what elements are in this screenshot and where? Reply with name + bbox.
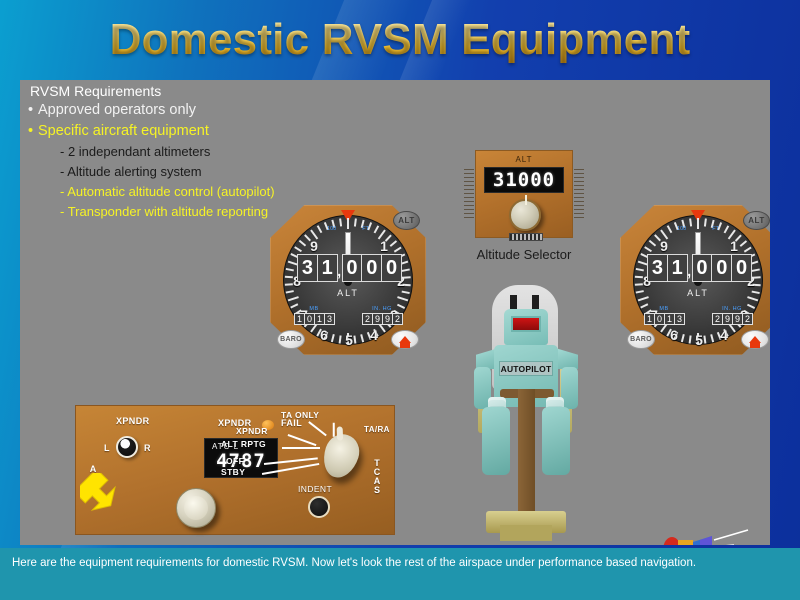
baro-inhg-value: 2992	[362, 313, 402, 325]
readout-digit: 0	[361, 254, 382, 282]
robot-leg-left	[482, 407, 510, 475]
baro-mb-value: 1013	[644, 313, 684, 325]
dial-number: 9	[307, 238, 321, 254]
dial-unit-100: 100	[677, 226, 686, 232]
baro-mb-value: 1013	[294, 313, 334, 325]
autopilot-robot-illustration: AUTOPILOT	[460, 285, 590, 545]
caption-bar: Here are the equipment requirements for …	[0, 548, 800, 600]
panel-texture	[574, 169, 584, 221]
altimeter-warning-button[interactable]	[391, 330, 419, 349]
readout-digit: 0	[731, 254, 752, 282]
tcas-vertical-label: TCAS	[372, 458, 381, 494]
dial-number: 4	[367, 327, 381, 343]
readout-digit: 1	[667, 254, 688, 282]
list-item: - Altitude alerting system	[28, 162, 448, 182]
robot-leg-right	[542, 407, 570, 475]
altimeter-baro-button[interactable]: BARO	[627, 330, 655, 349]
rotary-option-off[interactable]: OFF	[226, 456, 244, 466]
altitude-selector-display: 31000	[484, 167, 564, 193]
altimeter-digital-readout: 3 1 , 0 0 0	[647, 254, 751, 282]
list-item-label: Specific aircraft equipment	[38, 123, 209, 139]
requirements-heading: RVSM Requirements	[28, 82, 448, 100]
altimeter-left[interactable]: 1 2 3 4 5 6 7 8 9 100 FT 3 1 ,	[270, 205, 426, 355]
dial-tick	[299, 240, 306, 246]
dial-number: 5	[342, 332, 356, 348]
altimeter-warning-button[interactable]	[741, 330, 769, 349]
rotary-tick	[282, 447, 320, 449]
readout-digit: 3	[297, 254, 318, 282]
bullet-dot-icon: •	[28, 121, 33, 142]
dial-number: 1	[727, 238, 741, 254]
baro-inhg-group: IN. HG 2992	[712, 306, 752, 325]
dial-number: 1	[377, 238, 391, 254]
altitude-selector-knob[interactable]	[509, 199, 541, 231]
readout-digit: 0	[342, 254, 363, 282]
rotary-option-alt-rptg[interactable]: ALT RPTG	[221, 439, 266, 449]
dial-number: 6	[667, 327, 681, 343]
dial-tick	[649, 240, 656, 246]
switch-position-right-label: R	[144, 443, 151, 453]
baro-mb-label: MB	[294, 306, 334, 312]
altitude-selector-alt-label: ALT	[476, 151, 572, 164]
pilot-seat-legs	[500, 525, 552, 541]
baro-settings-row: MB 1013 IN. HG 2992	[644, 306, 752, 325]
list-item-label: Approved operators only	[38, 102, 196, 118]
readout-digit: 0	[381, 254, 402, 282]
rotary-option-stby[interactable]: STBY	[221, 467, 245, 477]
rotary-option-ta-only[interactable]: TA ONLY	[281, 410, 319, 420]
altimeter-mode-label: ALT	[634, 288, 762, 298]
warning-flag-icon	[749, 336, 761, 343]
indent-label: INDENT	[298, 484, 332, 494]
baro-mb-group: MB 1013	[644, 306, 684, 325]
altimeter-face: 1 2 3 4 5 6 7 8 9 100 FT 3 1 ,	[283, 215, 413, 345]
rotary-tick	[288, 434, 317, 446]
title-bar: Domestic RVSM Equipment	[0, 6, 800, 74]
rotary-tick	[309, 421, 327, 436]
readout-digit: 1	[317, 254, 338, 282]
altitude-selector-panel[interactable]: ALT 31000	[475, 150, 573, 238]
altitude-selector-caption: Altitude Selector	[475, 247, 573, 262]
altimeter-alt-button[interactable]: ALT	[743, 211, 770, 230]
content-panel: RVSM Requirements • Approved operators o…	[20, 80, 770, 545]
list-item: • Approved operators only	[28, 100, 448, 121]
dial-number: 6	[317, 327, 331, 343]
readout-digit: 0	[692, 254, 713, 282]
warning-flag-icon	[399, 336, 411, 343]
dial-tick	[294, 247, 302, 253]
baro-inhg-label: IN. HG	[712, 306, 752, 312]
xpndr-lr-toggle-switch[interactable]	[116, 436, 138, 458]
list-item: - 2 independant altimeters	[28, 142, 448, 162]
altimeter-right[interactable]: 1 2 3 4 5 6 7 8 9 100 FT 3 1 ,	[620, 205, 770, 355]
dial-number: 4	[717, 327, 731, 343]
dial-unit-ft: FT	[712, 226, 719, 232]
dial-tick	[744, 247, 752, 253]
baro-inhg-label: IN. HG	[362, 306, 402, 312]
dial-unit-100: 100	[327, 226, 336, 232]
altitude-selector-value: 31000	[493, 169, 555, 191]
altimeter-alt-button[interactable]: ALT	[393, 211, 420, 230]
altimeter-digital-readout: 3 1 , 0 0 0	[297, 254, 401, 282]
list-item: • Specific aircraft equipment	[28, 121, 448, 142]
dial-tick	[711, 334, 714, 342]
caption-text: Here are the equipment requirements for …	[12, 556, 696, 571]
rotary-option-xpndr[interactable]: XPNDR	[236, 426, 268, 436]
rotary-option-ta-ra[interactable]: TA/RA	[364, 425, 390, 434]
selector-connector	[509, 233, 543, 241]
dial-unit-ft: FT	[362, 226, 369, 232]
yellow-arrow-pointer-icon	[80, 473, 118, 513]
readout-digit: 0	[711, 254, 732, 282]
page-title: Domestic RVSM Equipment	[110, 15, 691, 65]
dial-tick	[644, 247, 652, 253]
switch-position-left-label: L	[104, 443, 110, 453]
altimeter-mode-label: ALT	[284, 288, 412, 298]
baro-inhg-group: IN. HG 2992	[362, 306, 402, 325]
indent-button[interactable]	[308, 496, 330, 518]
altimeter-face: 1 2 3 4 5 6 7 8 9 100 FT 3 1 ,	[633, 215, 763, 345]
dial-tick	[752, 268, 760, 271]
knob-index-mark	[525, 195, 527, 205]
dial-number: 9	[657, 238, 671, 254]
transponder-antenna-icon	[660, 528, 755, 545]
dial-tick	[332, 334, 335, 342]
dial-tick	[402, 268, 410, 271]
baro-mb-group: MB 1013	[294, 306, 334, 325]
dial-tick	[394, 247, 402, 253]
baro-mb-label: MB	[644, 306, 684, 312]
dial-tick	[286, 268, 294, 271]
dial-tick	[361, 334, 364, 342]
transponder-control-panel[interactable]: XPNDR L R ATC XPNDR FAIL ATC L 4787 INDE…	[75, 405, 395, 535]
readout-digit: 3	[647, 254, 668, 282]
altitude-selector-group: ALT 31000 Altitude Selector	[475, 150, 585, 262]
baro-settings-row: MB 1013 IN. HG 2992	[294, 306, 402, 325]
slide-canvas: Domestic RVSM Equipment RVSM Requirement…	[0, 0, 800, 600]
tcas-mode-selector-knob[interactable]	[318, 430, 364, 482]
dial-tick	[636, 268, 644, 271]
rotary-tick	[333, 423, 335, 437]
squawk-code-knob[interactable]	[176, 488, 216, 528]
bullet-dot-icon: •	[28, 100, 33, 121]
requirements-list: RVSM Requirements • Approved operators o…	[28, 82, 448, 222]
robot-visor-icon	[511, 316, 541, 332]
xpndr-switch-label: XPNDR	[116, 416, 150, 426]
autopilot-label: AUTOPILOT	[499, 361, 553, 376]
panel-texture	[464, 169, 474, 221]
dial-number: 5	[692, 332, 706, 348]
altimeter-baro-button[interactable]: BARO	[277, 330, 305, 349]
baro-inhg-value: 2992	[712, 313, 752, 325]
dial-tick	[682, 334, 685, 342]
list-item: - Automatic altitude control (autopilot)	[28, 182, 448, 202]
